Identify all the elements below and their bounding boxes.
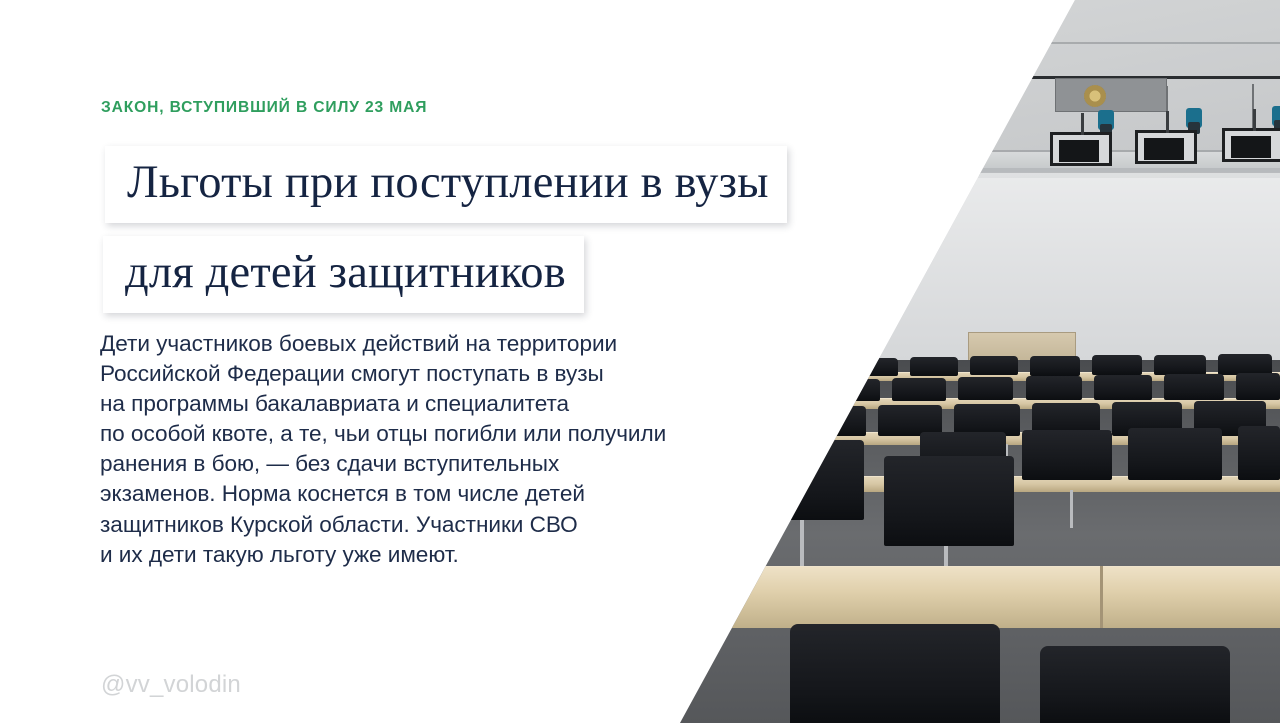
chair: [1238, 426, 1280, 480]
chair: [1154, 355, 1206, 375]
body-line: ранения в бою, — без сдачи вступительных: [100, 449, 800, 479]
ceiling-vent-plate: [1055, 78, 1167, 112]
body-text: Дети участников боевых действий на терри…: [100, 329, 800, 570]
chair: [884, 456, 1014, 546]
headline-line-1: Льготы при поступлении в вузы: [105, 146, 787, 223]
chair: [790, 624, 1000, 723]
ceiling-spotlight-icon: [1098, 110, 1114, 130]
chair: [828, 379, 880, 401]
text-content-area: ЗАКОН, ВСТУПИВШИЙ В СИЛУ 23 МАЯ Льготы п…: [0, 0, 820, 723]
chair: [1026, 376, 1082, 400]
chair: [1092, 355, 1142, 375]
chair: [1236, 373, 1280, 400]
chair: [1030, 356, 1080, 376]
chair: [1128, 428, 1222, 480]
chair: [1164, 374, 1224, 400]
ceiling-projector: [1050, 132, 1112, 166]
social-handle-watermark: @vv_volodin: [101, 671, 241, 699]
ceiling-spotlight-icon: [1272, 106, 1280, 126]
headline-line-2: для детей защитников: [103, 236, 584, 313]
chair: [1094, 375, 1152, 400]
chair: [970, 356, 1018, 375]
body-line: Российской Федерации смогут поступать в …: [100, 359, 800, 389]
body-line: защитников Курской области. Участники СВ…: [100, 510, 800, 540]
eyebrow-label: ЗАКОН, ВСТУПИВШИЙ В СИЛУ 23 МАЯ: [101, 99, 427, 117]
body-line: и их дети такую льготу уже имеют.: [100, 540, 800, 570]
chair: [892, 378, 946, 401]
body-line: экзаменов. Норма коснется в том числе де…: [100, 479, 800, 509]
chair: [852, 358, 898, 376]
ceiling-projector: [1135, 130, 1197, 164]
ceiling-projector: [1222, 128, 1280, 162]
chair: [958, 377, 1013, 400]
body-line: на программы бакалавриата и специалитета: [100, 389, 800, 419]
chair: [1218, 354, 1272, 375]
slide-canvas: ЗАКОН, ВСТУПИВШИЙ В СИЛУ 23 МАЯ Льготы п…: [0, 0, 1280, 723]
chair-leg: [1070, 490, 1073, 528]
chair: [1040, 646, 1230, 723]
body-line: по особой квоте, а те, чьи отцы погибли …: [100, 419, 800, 449]
body-line: Дети участников боевых действий на терри…: [100, 329, 800, 359]
desk-seam: [1100, 566, 1103, 628]
ceiling-spotlight-icon: [1186, 108, 1202, 128]
chair: [1022, 430, 1112, 480]
chair: [910, 357, 958, 376]
